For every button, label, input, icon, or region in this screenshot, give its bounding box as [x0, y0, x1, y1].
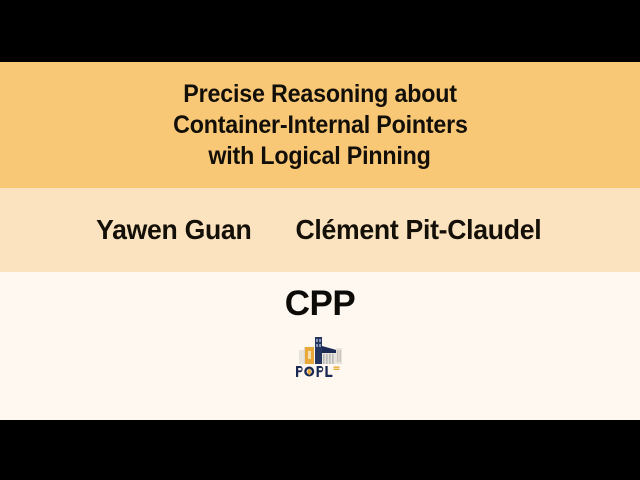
title-line-3: with Logical Pinning [209, 141, 431, 172]
popl-logo-wordmark [296, 366, 340, 377]
popl-logo [294, 334, 346, 378]
author-separator [255, 230, 289, 231]
venue-name: CPP [285, 286, 355, 321]
author-name-1: Yawen Guan [96, 214, 251, 246]
title-band: Precise Reasoning about Container-Intern… [0, 62, 640, 188]
letterbox-bar-top [0, 0, 640, 62]
author-name-2: Clément Pit-Claudel [296, 214, 542, 246]
letterbox-bar-bottom [0, 420, 640, 480]
venue-band: CPP [0, 272, 640, 420]
title-line-2: Container-Internal Pointers [173, 110, 468, 141]
popl-logo-skyline [299, 337, 342, 364]
title-line-1: Precise Reasoning about [183, 79, 457, 110]
authors-band: Yawen Guan Clément Pit-Claudel [0, 188, 640, 272]
title-card-slide: Precise Reasoning about Container-Intern… [0, 0, 640, 480]
